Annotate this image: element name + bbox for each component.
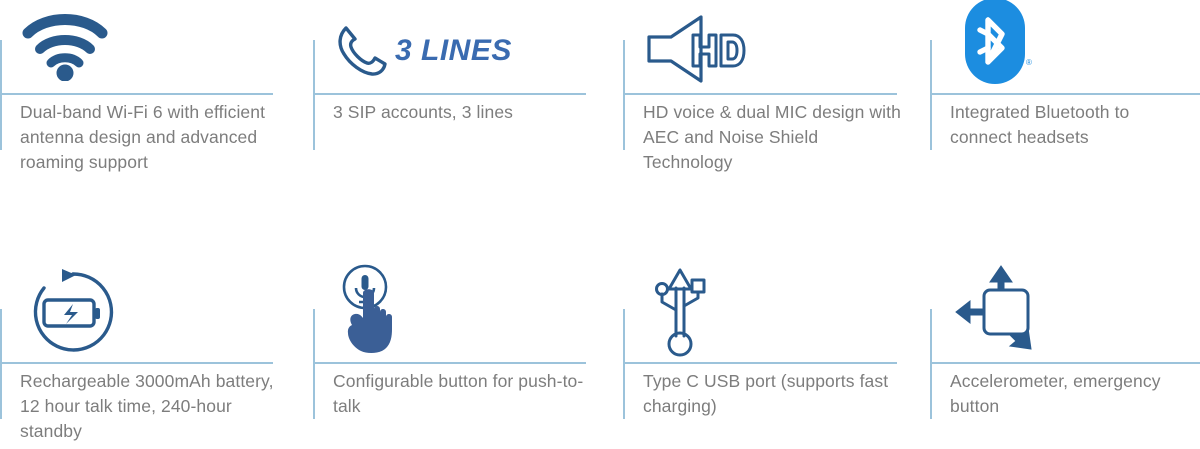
cell-divider bbox=[623, 362, 897, 364]
feature-text: Dual-band Wi-Fi 6 with efficient antenna… bbox=[20, 100, 270, 175]
feature-text: Accelerometer, emergency button bbox=[950, 369, 1195, 419]
cell-divider bbox=[930, 93, 1200, 95]
hd-speaker-icon bbox=[643, 4, 883, 94]
lines-badge-label: 3 LINES bbox=[395, 34, 512, 68]
feature-grid: Dual-band Wi-Fi 6 with efficient antenna… bbox=[0, 0, 1200, 449]
feature-cell-3-lines: 3 LINES 3 SIP accounts, 3 lines bbox=[313, 0, 603, 220]
feature-cell-hd-voice: HD voice & dual MIC design with AEC and … bbox=[623, 0, 913, 220]
feature-text: Type C USB port (supports fast charging) bbox=[643, 369, 911, 419]
wifi-icon bbox=[22, 0, 262, 90]
cell-divider bbox=[930, 362, 1200, 364]
cell-accent-line bbox=[0, 40, 2, 150]
registered-trademark-icon: ® bbox=[1026, 58, 1032, 67]
push-to-talk-hand-icon bbox=[333, 265, 573, 355]
feature-cell-accelerometer: Accelerometer, emergency button bbox=[930, 269, 1200, 449]
cell-divider bbox=[0, 362, 273, 364]
cell-accent-line bbox=[930, 309, 932, 419]
cell-accent-line bbox=[0, 309, 2, 419]
accelerometer-icon bbox=[954, 265, 1194, 355]
feature-cell-push-to-talk: Configurable button for push-to-talk bbox=[313, 269, 603, 449]
bluetooth-icon: ® bbox=[964, 0, 1200, 86]
cell-accent-line bbox=[623, 309, 625, 419]
feature-cell-usb-c: Type C USB port (supports fast charging) bbox=[623, 269, 913, 449]
feature-text: Integrated Bluetooth to connect headsets bbox=[950, 100, 1195, 150]
feature-cell-wifi: Dual-band Wi-Fi 6 with efficient antenna… bbox=[0, 0, 290, 220]
feature-text: Rechargeable 3000mAh battery, 12 hour ta… bbox=[20, 369, 278, 444]
feature-text: Configurable button for push-to-talk bbox=[333, 369, 595, 419]
cell-accent-line bbox=[623, 40, 625, 150]
cell-accent-line bbox=[313, 40, 315, 150]
cell-divider bbox=[313, 362, 586, 364]
rechargeable-battery-icon bbox=[28, 267, 268, 357]
phone-handset-icon: 3 LINES bbox=[335, 6, 575, 96]
feature-text: 3 SIP accounts, 3 lines bbox=[333, 100, 593, 125]
feature-cell-bluetooth: ® Integrated Bluetooth to connect headse… bbox=[930, 0, 1200, 220]
cell-accent-line bbox=[313, 309, 315, 419]
usb-type-c-icon bbox=[645, 267, 885, 357]
feature-cell-battery: Rechargeable 3000mAh battery, 12 hour ta… bbox=[0, 269, 290, 449]
cell-divider bbox=[0, 93, 273, 95]
cell-accent-line bbox=[930, 40, 932, 150]
feature-text: HD voice & dual MIC design with AEC and … bbox=[643, 100, 911, 175]
